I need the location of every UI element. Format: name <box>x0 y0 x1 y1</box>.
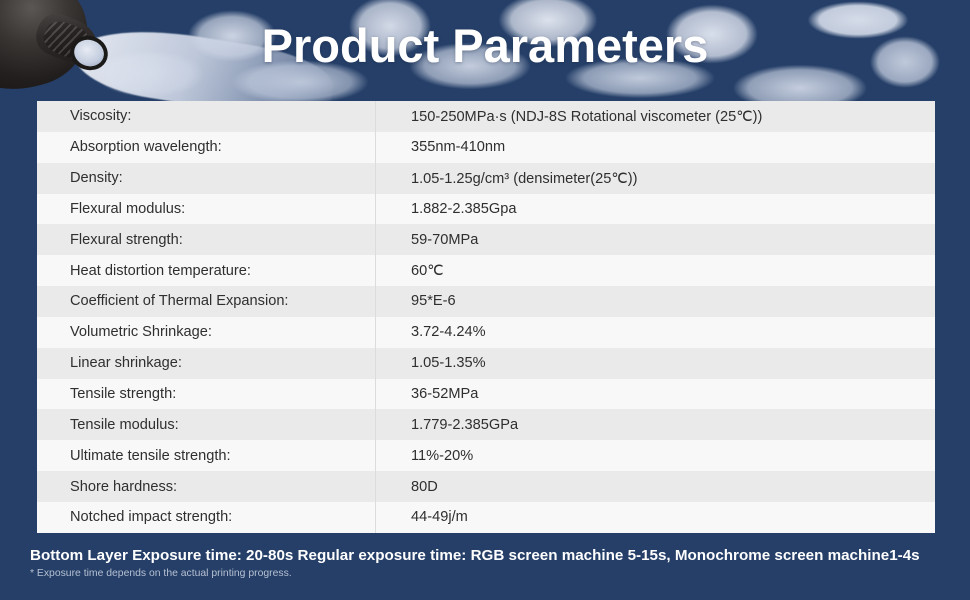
table-row: Tensile modulus: 1.779-2.385GPa <box>37 409 935 440</box>
table-row: Coefficient of Thermal Expansion: 95*E-6 <box>37 286 935 317</box>
parameter-value: 95*E-6 <box>376 286 936 317</box>
table-row: Tensile strength: 36-52MPa <box>37 379 935 410</box>
parameter-value: 355nm-410nm <box>376 132 936 163</box>
parameter-value: 36-52MPa <box>376 379 936 410</box>
parameter-label: Coefficient of Thermal Expansion: <box>37 286 376 317</box>
parameter-value: 1.779-2.385GPa <box>376 409 936 440</box>
hero-banner: Product Parameters <box>0 0 970 101</box>
parameter-value: 1.05-1.25g/cm³ (densimeter(25℃)) <box>376 163 936 194</box>
parameter-value: 44-49j/m <box>376 502 936 533</box>
table-row: Shore hardness: 80D <box>37 471 935 502</box>
page-title: Product Parameters <box>0 22 970 69</box>
parameter-label: Linear shrinkage: <box>37 348 376 379</box>
table-row: Notched impact strength: 44-49j/m <box>37 502 935 533</box>
parameter-value: 60℃ <box>376 255 936 286</box>
table-row: Volumetric Shrinkage: 3.72-4.24% <box>37 317 935 348</box>
parameter-label: Heat distortion temperature: <box>37 255 376 286</box>
parameter-label: Notched impact strength: <box>37 502 376 533</box>
specifications-table: Viscosity: 150-250MPa·s (NDJ-8S Rotation… <box>37 101 935 533</box>
parameter-label: Density: <box>37 163 376 194</box>
table-row: Density: 1.05-1.25g/cm³ (densimeter(25℃)… <box>37 163 935 194</box>
parameter-label: Tensile modulus: <box>37 409 376 440</box>
parameter-value: 59-70MPa <box>376 224 936 255</box>
parameter-value: 3.72-4.24% <box>376 317 936 348</box>
parameter-label: Shore hardness: <box>37 471 376 502</box>
parameter-label: Ultimate tensile strength: <box>37 440 376 471</box>
parameter-label: Tensile strength: <box>37 379 376 410</box>
parameter-value: 150-250MPa·s (NDJ-8S Rotational viscomet… <box>376 101 936 132</box>
parameter-value: 80D <box>376 471 936 502</box>
parameter-label: Flexural modulus: <box>37 194 376 225</box>
table-row: Flexural modulus: 1.882-2.385Gpa <box>37 194 935 225</box>
parameter-label: Viscosity: <box>37 101 376 132</box>
table-body: Viscosity: 150-250MPa·s (NDJ-8S Rotation… <box>37 101 935 533</box>
parameter-value: 11%-20% <box>376 440 936 471</box>
table-row: Absorption wavelength: 355nm-410nm <box>37 132 935 163</box>
parameter-value: 1.05-1.35% <box>376 348 936 379</box>
table-row: Ultimate tensile strength: 11%-20% <box>37 440 935 471</box>
table-row: Flexural strength: 59-70MPa <box>37 224 935 255</box>
parameter-value: 1.882-2.385Gpa <box>376 194 936 225</box>
footer: Bottom Layer Exposure time: 20-80s Regul… <box>30 546 950 582</box>
product-parameters-page: Product Parameters Viscosity: 150-250MPa… <box>0 0 970 600</box>
parameter-label: Volumetric Shrinkage: <box>37 317 376 348</box>
exposure-time-note: * Exposure time depends on the actual pr… <box>30 566 950 582</box>
parameter-label: Flexural strength: <box>37 224 376 255</box>
table-row: Viscosity: 150-250MPa·s (NDJ-8S Rotation… <box>37 101 935 132</box>
exposure-time-text: Bottom Layer Exposure time: 20-80s Regul… <box>30 546 950 565</box>
parameter-label: Absorption wavelength: <box>37 132 376 163</box>
table-row: Heat distortion temperature: 60℃ <box>37 255 935 286</box>
table-row: Linear shrinkage: 1.05-1.35% <box>37 348 935 379</box>
